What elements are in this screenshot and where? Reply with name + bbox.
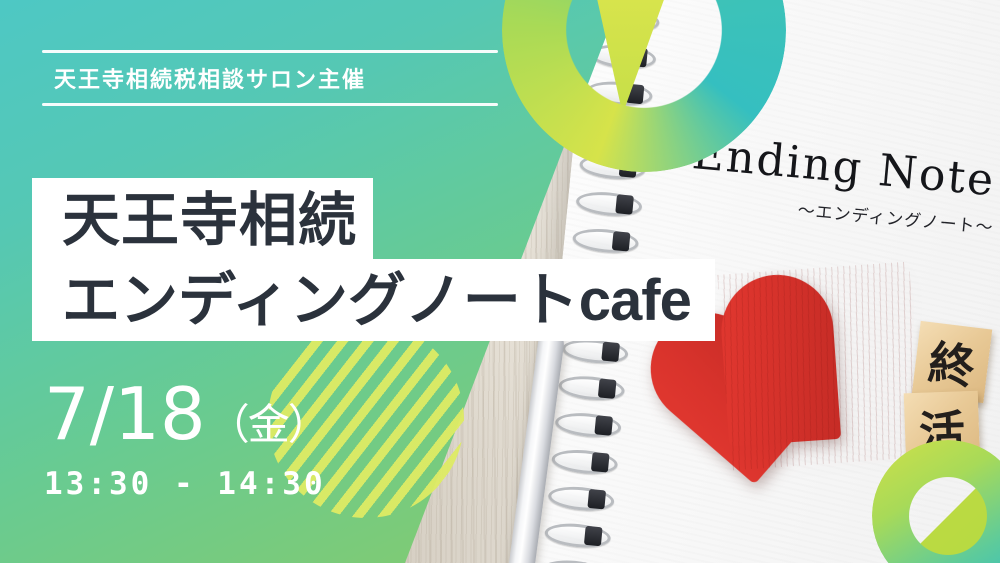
- eyebrow-block: 天王寺相続税相談サロン主催: [42, 50, 498, 106]
- spiral-ring: [558, 374, 626, 403]
- event-time: 13:30 - 14:30: [44, 466, 328, 502]
- spiral-ring: [551, 447, 619, 476]
- eyebrow-rule-bottom: [42, 103, 498, 106]
- event-day-of-week: （金）: [208, 404, 328, 450]
- event-date-row: 7/18 （金）: [44, 378, 328, 450]
- red-heart-ornament: [717, 262, 922, 471]
- headline-line-2-jp: エンディングノート: [62, 266, 579, 334]
- headline-line-2: エンディングノートcafe: [32, 259, 715, 341]
- event-date: 7/18: [44, 378, 206, 450]
- event-poster: 終 活 Ending Note 〜エンディングノート〜 天王寺相続税相談サロン主…: [0, 0, 1000, 563]
- headline-line-1: 天王寺相続: [32, 178, 373, 261]
- eyebrow-text: 天王寺相続税相談サロン主催: [42, 53, 498, 103]
- spiral-ring: [540, 558, 608, 563]
- spiral-ring: [561, 337, 629, 366]
- headline-line-2-latin: cafe: [579, 268, 691, 333]
- spiral-ring: [544, 521, 612, 550]
- spiral-ring: [547, 484, 615, 513]
- date-time-block: 7/18 （金） 13:30 - 14:30: [44, 378, 328, 502]
- eyebrow-rule-top: [42, 50, 498, 53]
- spiral-ring: [554, 410, 622, 439]
- wooden-block-shuu-char: 終: [925, 326, 979, 397]
- headline-block: 天王寺相続 エンディングノートcafe: [32, 178, 715, 341]
